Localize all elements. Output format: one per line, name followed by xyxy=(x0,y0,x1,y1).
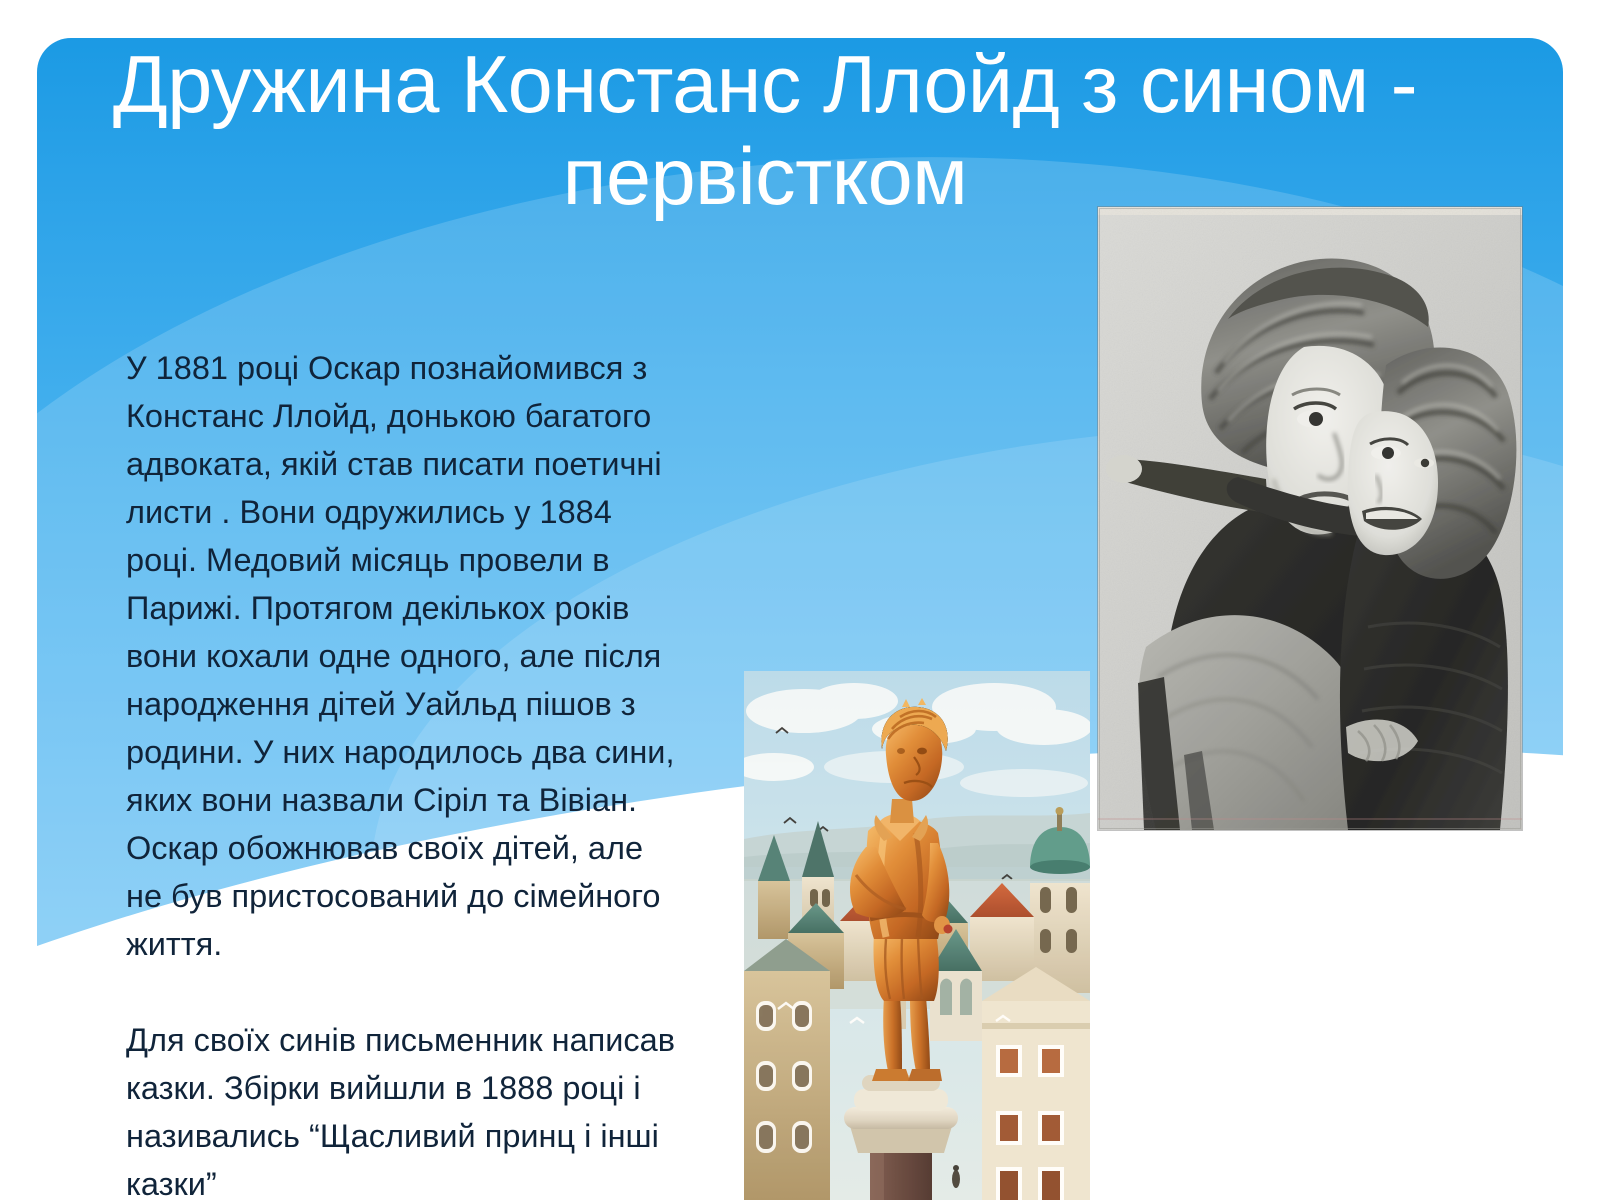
slide-title: Дружина Констанс Ллойд з сином - первіст… xyxy=(60,40,1470,223)
slide-body-text: У 1881 році Оскар познайомився з Констан… xyxy=(126,296,686,1200)
constance-lloyd-with-son-photo xyxy=(1098,207,1522,830)
photo-artwork xyxy=(1098,207,1522,830)
slide: Дружина Констанс Ллойд з сином - первіст… xyxy=(0,0,1600,1200)
happy-prince-statue-illustration xyxy=(744,671,1090,1200)
body-paragraph-2: Для своїх синів письменник написав казки… xyxy=(126,1016,686,1200)
body-paragraph-1: У 1881 році Оскар познайомився з Констан… xyxy=(126,344,686,968)
illustration-artwork xyxy=(744,671,1090,1200)
